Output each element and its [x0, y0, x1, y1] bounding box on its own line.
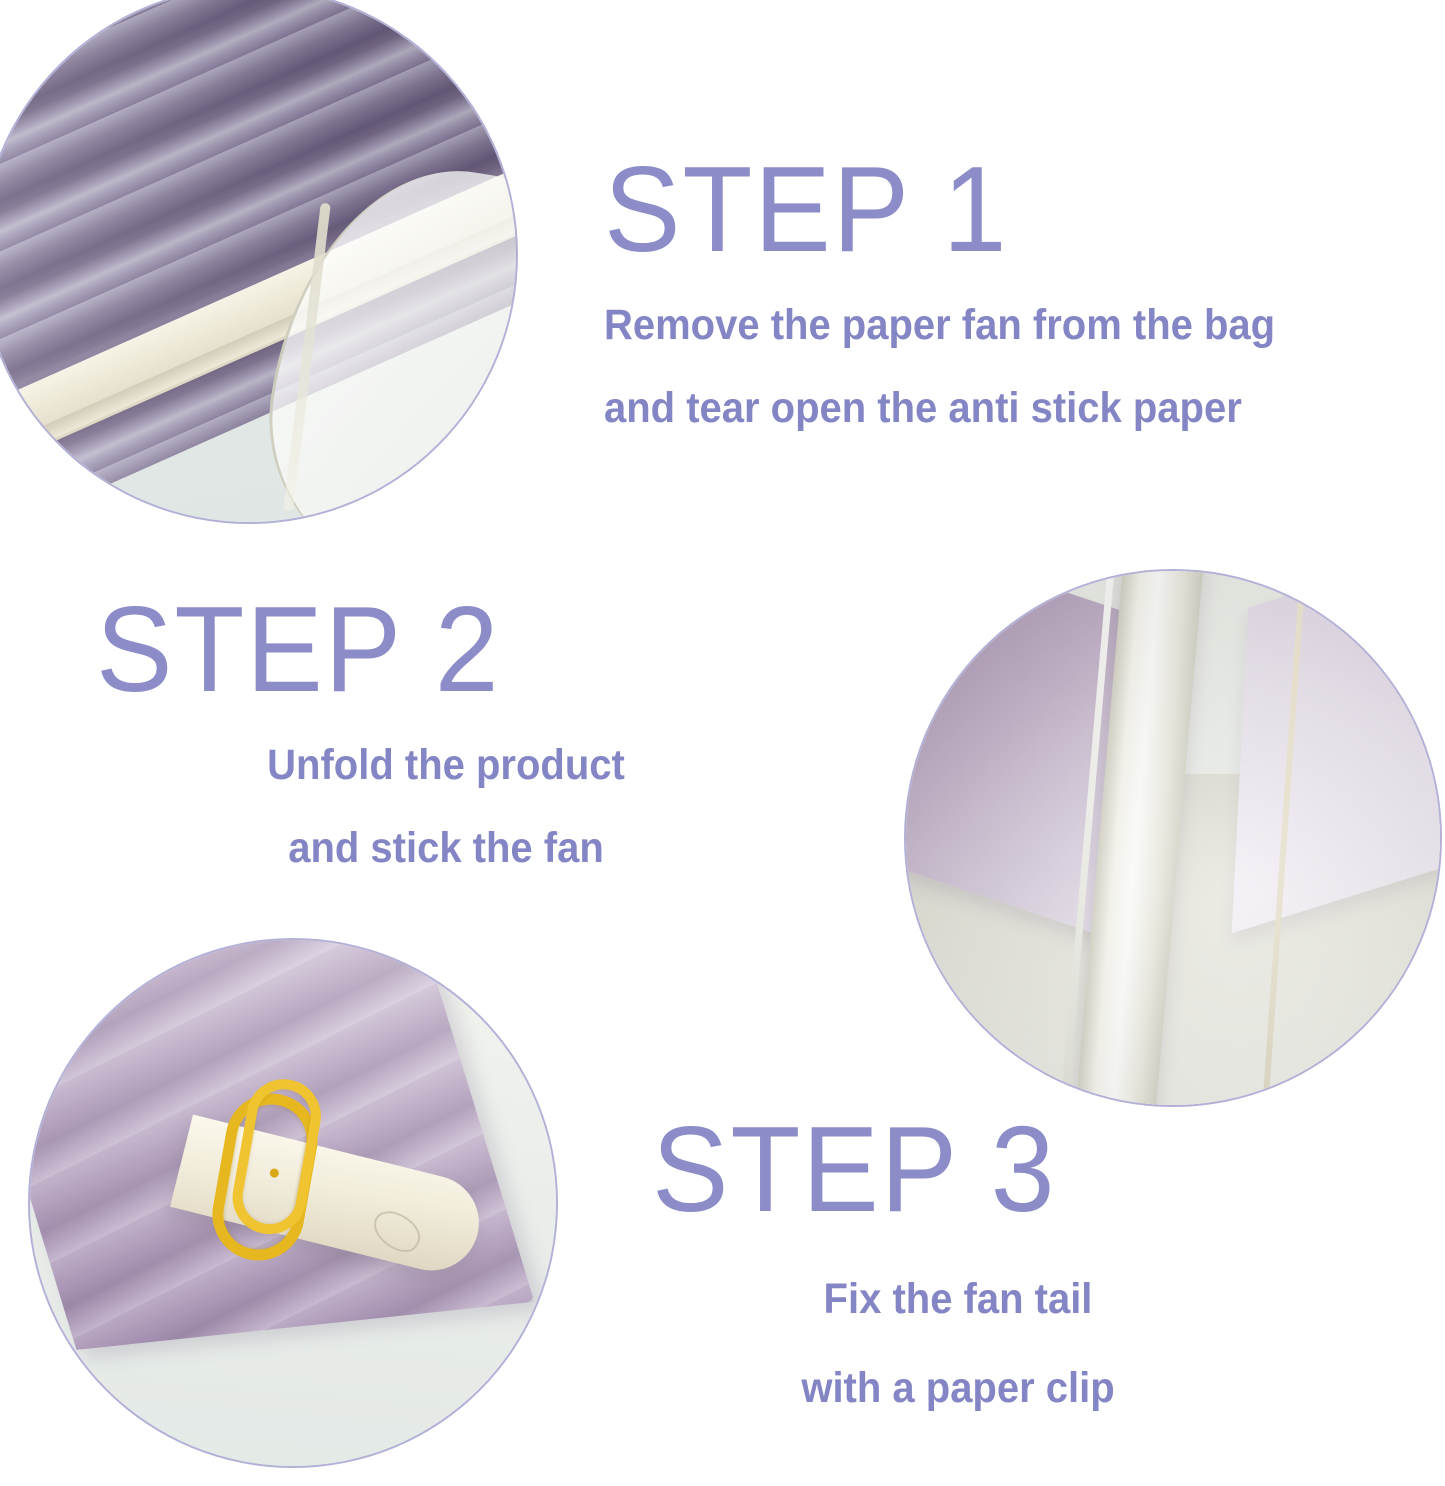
- tail-emboss-mark: [367, 1204, 427, 1259]
- step-1-photo-circle: [0, 0, 516, 522]
- step-1-heading: STEP 1: [604, 148, 1282, 270]
- step-3-line-1: Fix the fan tail: [673, 1278, 1242, 1321]
- step-3-text-block: STEP 3 Fix the fan tail with a paper cli…: [652, 1108, 1264, 1456]
- step-1-text-block: STEP 1 Remove the paper fan from the bag…: [604, 148, 1326, 430]
- instruction-infographic: STEP 1 Remove the paper fan from the bag…: [0, 0, 1445, 1486]
- step-1-description: Remove the paper fan from the bag and te…: [604, 304, 1326, 430]
- step-2-line-1: Unfold the product: [121, 744, 772, 787]
- step-1-line-1: Remove the paper fan from the bag: [604, 304, 1275, 347]
- step-2-photo-circle: [906, 571, 1440, 1105]
- step-1-line-2: and tear open the anti stick paper: [604, 387, 1275, 430]
- unfolded-fan-stuck-to-surface-photo: [906, 571, 1440, 1105]
- step-3-line-2: with a paper clip: [673, 1367, 1242, 1410]
- step-2-description: Unfold the product and stick the fan: [96, 744, 796, 870]
- photo-shading: [906, 571, 1440, 1105]
- step-2-text-block: STEP 2 Unfold the product and stick the …: [96, 588, 796, 870]
- folded-pleated-paper-fan-photo: [0, 0, 516, 522]
- step-2-line-2: and stick the fan: [121, 827, 772, 870]
- step-3-photo-circle: [30, 940, 556, 1466]
- step-3-heading: STEP 3: [652, 1108, 1227, 1230]
- step-3-description: Fix the fan tail with a paper clip: [652, 1278, 1264, 1410]
- paper-clip-on-fan-tail-photo: [30, 940, 556, 1466]
- step-2-heading: STEP 2: [96, 588, 754, 710]
